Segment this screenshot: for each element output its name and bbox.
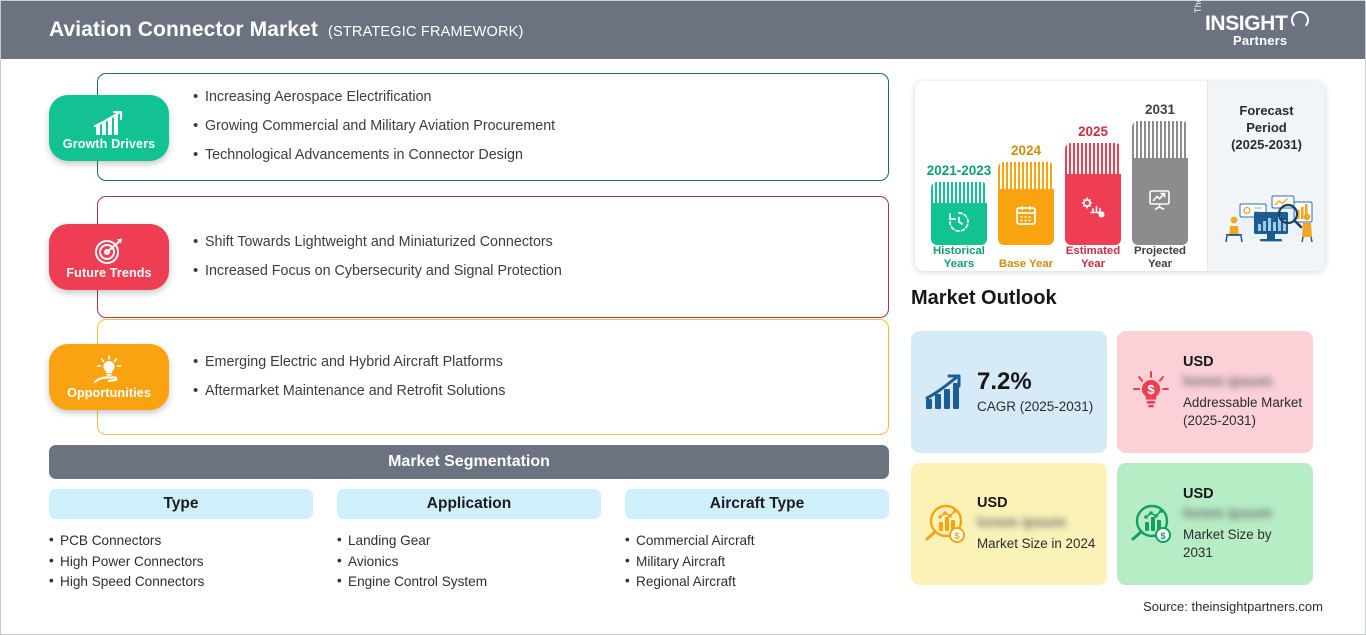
segmentation-header: Aircraft Type (625, 489, 889, 519)
list-item: Aftermarket Maintenance and Retrofit Sol… (193, 383, 877, 401)
badge-future-trends: Future Trends (49, 224, 169, 290)
card-masked-value: lorem ipsum (1183, 373, 1272, 390)
segmentation-list: Commercial Aircraft Military Aircraft Re… (625, 531, 889, 593)
infographic-page: Aviation Connector Market (STRATEGIC FRA… (0, 0, 1366, 635)
bar-year-label: 2031 (1145, 102, 1175, 117)
history-clock-icon (947, 210, 971, 239)
bar-shape (1065, 143, 1121, 245)
pillar-bullet-list: Shift Towards Lightweight and Miniaturiz… (193, 196, 877, 318)
page-header: Aviation Connector Market (STRATEGIC FRA… (1, 1, 1365, 59)
bar-shape (931, 182, 987, 245)
presentation-chart-icon (1147, 187, 1173, 216)
card-currency-label: USD (977, 495, 1097, 511)
bar-year-label: 2021-2023 (927, 163, 992, 178)
logo-arc-icon (1291, 11, 1309, 29)
card-addressable-market: $ USD lorem ipsum Addressable Market (20… (1117, 331, 1313, 453)
pillar-future-trends: Future Trends Shift Towards Lightweight … (97, 196, 889, 318)
bar-solid (1065, 174, 1121, 245)
list-item: Engine Control System (337, 572, 601, 593)
lightbulb-dollar-icon: $ (1127, 370, 1175, 414)
cagr-value: 7.2% (977, 368, 1032, 395)
card-text: USD lorem ipsum Market Size in 2024 (977, 495, 1097, 553)
pillar-opportunities: Opportunities Emerging Electric and Hybr… (97, 319, 889, 435)
badge-label: Growth Drivers (63, 137, 155, 151)
source-attribution: Source: theinsightpartners.com (1143, 599, 1323, 614)
bar-solid (1132, 158, 1188, 245)
page-subtitle: (STRATEGIC FRAMEWORK) (328, 24, 524, 40)
list-item: PCB Connectors (49, 531, 313, 552)
card-text: USD lorem ipsum Addressable Market (2025… (1183, 354, 1303, 430)
list-item: Landing Gear (337, 531, 601, 552)
bar-caption: Base Year (989, 258, 1063, 271)
pillar-growth-drivers: Growth Drivers Increasing Aerospace Elec… (97, 73, 889, 181)
calendar-icon (1014, 203, 1038, 232)
list-item: High Speed Connectors (49, 572, 313, 593)
list-item: Technological Advancements in Connector … (193, 147, 877, 165)
list-item: Military Aircraft (625, 552, 889, 573)
card-text: USD lorem ipsum Market Size by 2031 (1183, 486, 1303, 562)
insight-partners-logo: The INSIGHT Partners (1193, 9, 1313, 51)
card-text: 7.2% CAGR (2025-2031) (977, 370, 1097, 414)
card-masked-value: lorem ipsum (1183, 505, 1272, 522)
timeline-bar-chart: 2021-2023 Historical Years (931, 81, 1196, 271)
list-item: Regional Aircraft (625, 572, 889, 593)
segmentation-column-application: Application Landing Gear Avionics Engine… (337, 489, 601, 593)
outlook-cards: 7.2% CAGR (2025-2031) (911, 331, 1331, 585)
forecast-line-2: Period (1246, 120, 1286, 137)
cagr-description: CAGR (2025-2031) (977, 399, 1097, 414)
bar-stripes (998, 162, 1054, 189)
data-analysis-illustration (1214, 180, 1320, 249)
list-item: Increasing Aerospace Electrification (193, 89, 877, 107)
market-outlook-title: Market Outlook (911, 287, 1057, 310)
right-column: 2021-2023 Historical Years (901, 59, 1365, 635)
magnifier-chart-dollar-icon: $ (1127, 502, 1175, 546)
magnifier-chart-dollar-icon: $ (921, 502, 969, 546)
forecast-gear-chart-icon (1080, 195, 1106, 224)
target-dart-icon (94, 235, 124, 265)
segmentation-column-type: Type PCB Connectors High Power Connector… (49, 489, 313, 593)
bar-chart-arrow-icon (921, 372, 969, 412)
pillar-bullet-list: Increasing Aerospace Electrification Gro… (193, 73, 877, 181)
left-column: Growth Drivers Increasing Aerospace Elec… (1, 59, 901, 635)
forecast-period-panel: Forecast Period (2025-2031) (1207, 81, 1325, 271)
card-description: Addressable Market (2025-2031) (1183, 394, 1303, 430)
card-description: Market Size in 2024 (977, 535, 1097, 553)
bar-caption: Estimated Year (1056, 245, 1130, 271)
lightbulb-hand-icon (92, 355, 126, 385)
growth-chart-arrow-icon (92, 106, 126, 136)
logo-partners-text: Partners (1233, 33, 1287, 48)
list-item: Emerging Electric and Hybrid Aircraft Pl… (193, 354, 877, 372)
forecast-line-1: Forecast (1239, 103, 1293, 120)
svg-text:$: $ (1160, 531, 1165, 541)
pillar-bullet-list: Emerging Electric and Hybrid Aircraft Pl… (193, 319, 877, 435)
list-item: Commercial Aircraft (625, 531, 889, 552)
bar-stripes (1065, 143, 1121, 174)
card-market-size-2031: $ USD lorem ipsum Market Size by 2031 (1117, 463, 1313, 585)
list-item: Growing Commercial and Military Aviation… (193, 118, 877, 136)
segmentation-list: PCB Connectors High Power Connectors Hig… (49, 531, 313, 593)
card-masked-value: lorem ipsum (977, 514, 1066, 531)
segmentation-list: Landing Gear Avionics Engine Control Sys… (337, 531, 601, 593)
badge-label: Future Trends (66, 266, 151, 280)
card-cagr: 7.2% CAGR (2025-2031) (911, 331, 1107, 453)
badge-label: Opportunities (67, 386, 151, 400)
segmentation-header: Application (337, 489, 601, 519)
bar-shape (998, 162, 1054, 245)
bar-year-label: 2025 (1078, 124, 1108, 139)
bar-stripes (1132, 121, 1188, 158)
card-currency-label: USD (1183, 486, 1303, 502)
card-market-size-2024: $ USD lorem ipsum Market Size in 2024 (911, 463, 1107, 585)
svg-text:$: $ (1147, 382, 1155, 397)
page-title: Aviation Connector Market (49, 18, 318, 42)
segmentation-header: Type (49, 489, 313, 519)
list-item: Shift Towards Lightweight and Miniaturiz… (193, 234, 877, 252)
card-currency-label: USD (1183, 354, 1303, 370)
header-titles: Aviation Connector Market (STRATEGIC FRA… (49, 18, 524, 42)
bar-solid (931, 203, 987, 245)
bar-stripes (931, 182, 987, 203)
badge-opportunities: Opportunities (49, 344, 169, 410)
bar-caption: Projected Year (1123, 245, 1197, 271)
bar-solid (998, 189, 1054, 245)
segmentation-columns: Type PCB Connectors High Power Connector… (49, 489, 889, 593)
forecast-timeline-panel: 2021-2023 Historical Years (915, 81, 1325, 271)
forecast-line-3: (2025-2031) (1231, 137, 1302, 154)
list-item: Avionics (337, 552, 601, 573)
svg-text:$: $ (954, 531, 959, 541)
logo-the-text: The (1193, 0, 1203, 13)
bar-year-label: 2024 (1011, 143, 1041, 158)
list-item: High Power Connectors (49, 552, 313, 573)
market-segmentation-title: Market Segmentation (49, 445, 889, 479)
card-description: Market Size by 2031 (1183, 526, 1303, 562)
bar-shape (1132, 121, 1188, 245)
bar-caption: Historical Years (922, 245, 996, 271)
list-item: Increased Focus on Cybersecurity and Sig… (193, 263, 877, 281)
badge-growth-drivers: Growth Drivers (49, 95, 169, 161)
segmentation-column-aircraft-type: Aircraft Type Commercial Aircraft Milita… (625, 489, 889, 593)
